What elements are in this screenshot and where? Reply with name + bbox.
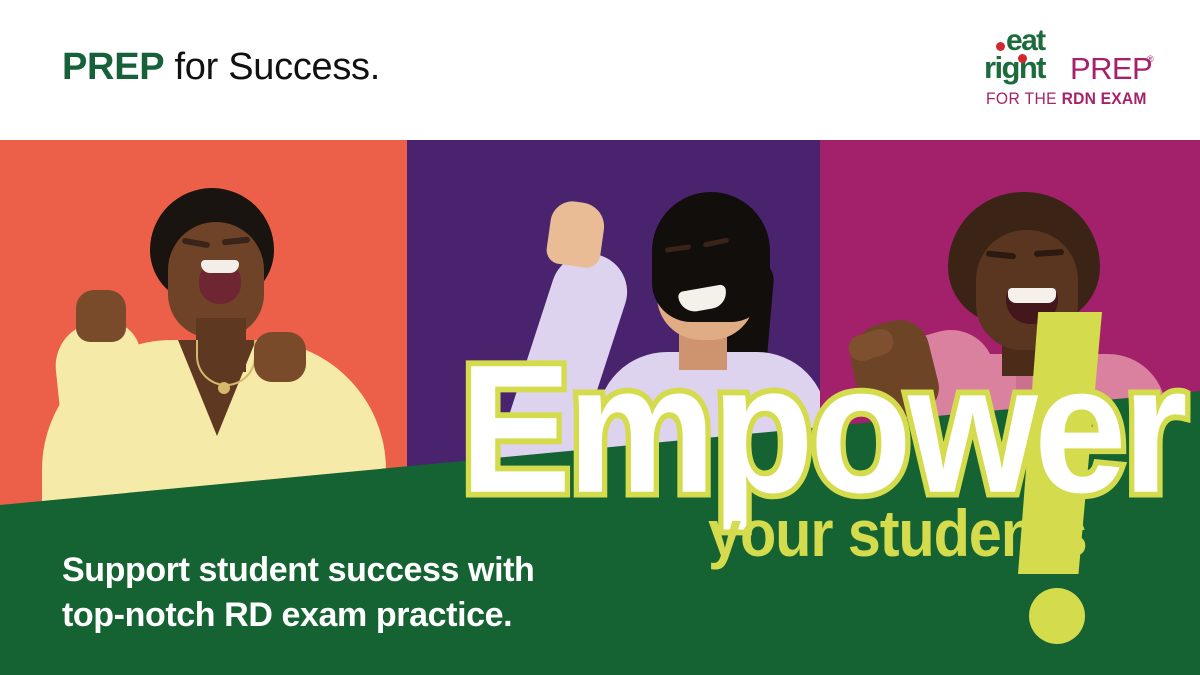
body-copy: Support student success with top-notch R… bbox=[62, 548, 534, 638]
hero-display-subword: your students bbox=[708, 502, 1087, 568]
eatright-prep-logo[interactable]: eat right PREP ® FOR THE RDN EXAM bbox=[984, 28, 1156, 112]
teeth-shape bbox=[201, 260, 239, 273]
logo-trademark-symbol: ® bbox=[1147, 54, 1154, 64]
prep-for-success-banner: PREP for Success. eat right PREP ® FOR T… bbox=[0, 0, 1200, 675]
headline-rest: for Success. bbox=[164, 46, 380, 88]
logo-tagline-bold: RDN EXAM bbox=[1062, 89, 1147, 108]
body-copy-line-1: Support student success with bbox=[62, 548, 534, 593]
logo-i-dot-icon bbox=[1018, 54, 1027, 63]
exclamation-dot-icon bbox=[1029, 588, 1085, 644]
headline-strong: PREP bbox=[62, 46, 164, 88]
logo-word-prep: PREP bbox=[1070, 53, 1152, 85]
pendant-shape bbox=[218, 382, 230, 394]
page-title: PREP for Success. bbox=[62, 45, 380, 89]
hero-display-word: Empower bbox=[460, 338, 1184, 520]
teeth-shape bbox=[1008, 288, 1056, 303]
header-bar: PREP for Success. eat right PREP ® FOR T… bbox=[0, 0, 1200, 140]
logo-word-right: right bbox=[984, 52, 1045, 84]
logo-tagline: FOR THE RDN EXAM bbox=[986, 90, 1147, 108]
raised-fist-shape bbox=[545, 199, 607, 270]
raised-fist-left-shape bbox=[76, 290, 126, 342]
raised-fist-right-shape bbox=[254, 332, 306, 382]
left-arm-shape bbox=[51, 318, 154, 496]
logo-tagline-light: FOR THE bbox=[986, 89, 1062, 108]
logo-line-right-prep: right PREP ® bbox=[984, 52, 1156, 86]
body-copy-line-2: top-notch RD exam practice. bbox=[62, 593, 534, 638]
